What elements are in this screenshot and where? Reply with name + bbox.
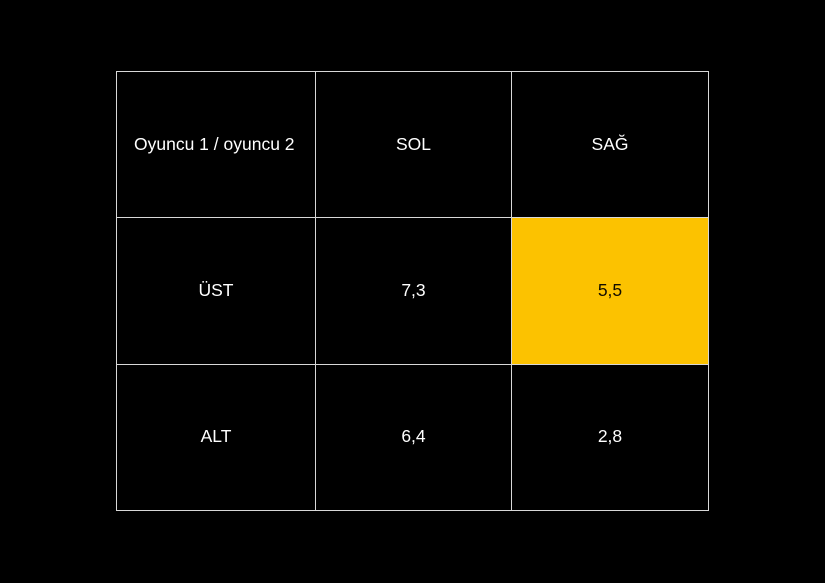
row-header-alt: ALT	[117, 364, 316, 510]
slide-canvas: Oyuncu 1 / oyuncu 2 SOL SAĞ ÜST 7,3 5,5 …	[0, 0, 825, 583]
payoff-matrix-table: Oyuncu 1 / oyuncu 2 SOL SAĞ ÜST 7,3 5,5 …	[116, 71, 709, 511]
cell-ust-sag-highlighted: 5,5	[512, 218, 709, 364]
matrix-header-row: Oyuncu 1 / oyuncu 2 SOL SAĞ	[117, 72, 709, 218]
column-header-sag: SAĞ	[512, 72, 709, 218]
cell-ust-sol: 7,3	[316, 218, 512, 364]
cell-alt-sol: 6,4	[316, 364, 512, 510]
cell-alt-sag: 2,8	[512, 364, 709, 510]
matrix-corner-header: Oyuncu 1 / oyuncu 2	[117, 72, 316, 218]
matrix-row-alt: ALT 6,4 2,8	[117, 364, 709, 510]
row-header-ust: ÜST	[117, 218, 316, 364]
matrix-row-ust: ÜST 7,3 5,5	[117, 218, 709, 364]
column-header-sol: SOL	[316, 72, 512, 218]
